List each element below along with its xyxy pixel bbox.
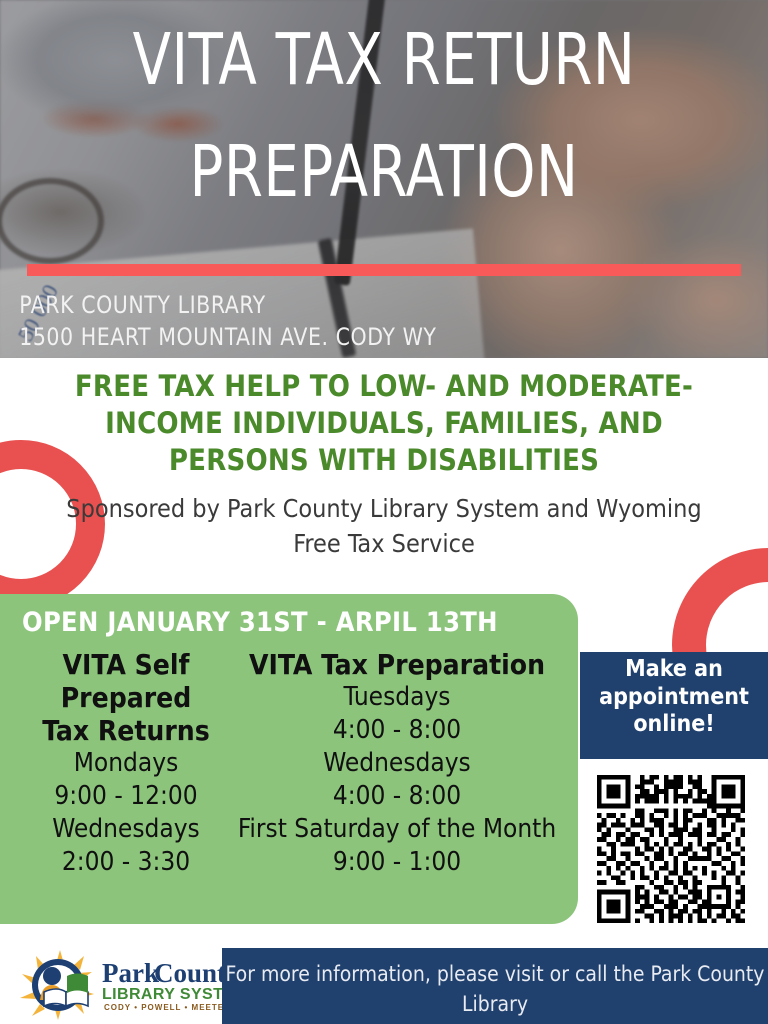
logo-subtitle: LIBRARY SYSTEM xyxy=(102,986,226,1003)
park-county-library-logo: Park County LIBRARY SYSTEM CODY • POWELL… xyxy=(14,948,226,1020)
sponsor-text-line-2: Free Tax Service xyxy=(39,527,729,562)
tax-preparation-title: VITA Tax Preparation xyxy=(230,648,564,681)
title-divider-rule xyxy=(27,264,741,276)
self-prepared-title-line-2: Prepared xyxy=(22,681,230,714)
library-logo-icon: Park County LIBRARY SYSTEM CODY • POWELL… xyxy=(14,948,226,1020)
self-prepared-title: VITA Self Prepared Tax Returns xyxy=(22,648,230,747)
intro-headline-line-3: PERSONS WITH DISABILITIES xyxy=(34,442,734,479)
schedule-row: First Saturday of the Month xyxy=(230,813,564,846)
sponsor-text: Sponsored by Park County Library System … xyxy=(39,492,729,561)
schedule-row: Wednesdays xyxy=(22,813,230,846)
page-title-line-1: VITA TAX RETURN xyxy=(65,0,702,94)
intro-headline-line-1: FREE TAX HELP TO LOW- AND MODERATE- xyxy=(34,368,734,405)
make-appointment-callout: Make an appointment online! xyxy=(580,652,768,759)
schedule-columns: VITA Self Prepared Tax Returns Mondays 9… xyxy=(22,648,564,879)
page-title-line-2: PREPARATION xyxy=(65,94,702,206)
flyer-poster: 50 000 VITA TAX RETURN PREPARATION PARK … xyxy=(0,0,768,1024)
make-appointment-line-2: appointment xyxy=(580,684,768,712)
make-appointment-line-3: online! xyxy=(580,711,768,739)
logo-name-part1: Park xyxy=(102,958,159,988)
sponsor-text-line-1: Sponsored by Park County Library System … xyxy=(39,492,729,527)
venue-block: PARK COUNTY LIBRARY 1500 HEART MOUNTAIN … xyxy=(19,289,749,353)
schedule-row: 9:00 - 1:00 xyxy=(230,846,564,879)
venue-name: PARK COUNTY LIBRARY xyxy=(19,289,749,321)
intro-section: FREE TAX HELP TO LOW- AND MODERATE- INCO… xyxy=(0,368,768,561)
logo-towns: CODY • POWELL • MEETEETSE xyxy=(104,1003,226,1012)
intro-headline-line-2: INCOME INDIVIDUALS, FAMILIES, AND xyxy=(34,405,734,442)
contact-footer-line-2: at (307) 527-1880, or email dstowell@vit… xyxy=(222,1020,768,1024)
schedule-column-self-prepared: VITA Self Prepared Tax Returns Mondays 9… xyxy=(22,648,230,879)
appointment-qr-code[interactable] xyxy=(592,770,750,928)
schedule-open-dates: OPEN JANUARY 31ST - ARPIL 13TH xyxy=(22,607,564,638)
contact-footer-line-1: For more information, please visit or ca… xyxy=(222,960,768,1020)
self-prepared-title-line-3: Tax Returns xyxy=(22,714,230,747)
logo-name-part2: County xyxy=(154,958,226,988)
intro-headline: FREE TAX HELP TO LOW- AND MODERATE- INCO… xyxy=(34,368,734,479)
hero-banner: 50 000 VITA TAX RETURN PREPARATION PARK … xyxy=(0,0,768,358)
qr-code-icon xyxy=(592,770,750,928)
make-appointment-line-1: Make an xyxy=(580,656,768,684)
schedule-row: 4:00 - 8:00 xyxy=(230,780,564,813)
schedule-row: Wednesdays xyxy=(230,747,564,780)
self-prepared-title-line-1: VITA Self xyxy=(22,648,230,681)
schedule-column-tax-preparation: VITA Tax Preparation Tuesdays 4:00 - 8:0… xyxy=(230,648,564,879)
schedule-row: Tuesdays xyxy=(230,681,564,714)
venue-address: 1500 HEART MOUNTAIN AVE. CODY WY xyxy=(19,321,749,353)
schedule-row: 4:00 - 8:00 xyxy=(230,714,564,747)
page-title: VITA TAX RETURN PREPARATION xyxy=(46,0,722,206)
schedule-card: OPEN JANUARY 31ST - ARPIL 13TH VITA Self… xyxy=(0,594,578,924)
schedule-row: Mondays xyxy=(22,747,230,780)
contact-footer: For more information, please visit or ca… xyxy=(222,948,768,1024)
schedule-row: 2:00 - 3:30 xyxy=(22,846,230,879)
schedule-row: 9:00 - 12:00 xyxy=(22,780,230,813)
tax-preparation-title-line-1: VITA Tax Preparation xyxy=(230,648,564,681)
